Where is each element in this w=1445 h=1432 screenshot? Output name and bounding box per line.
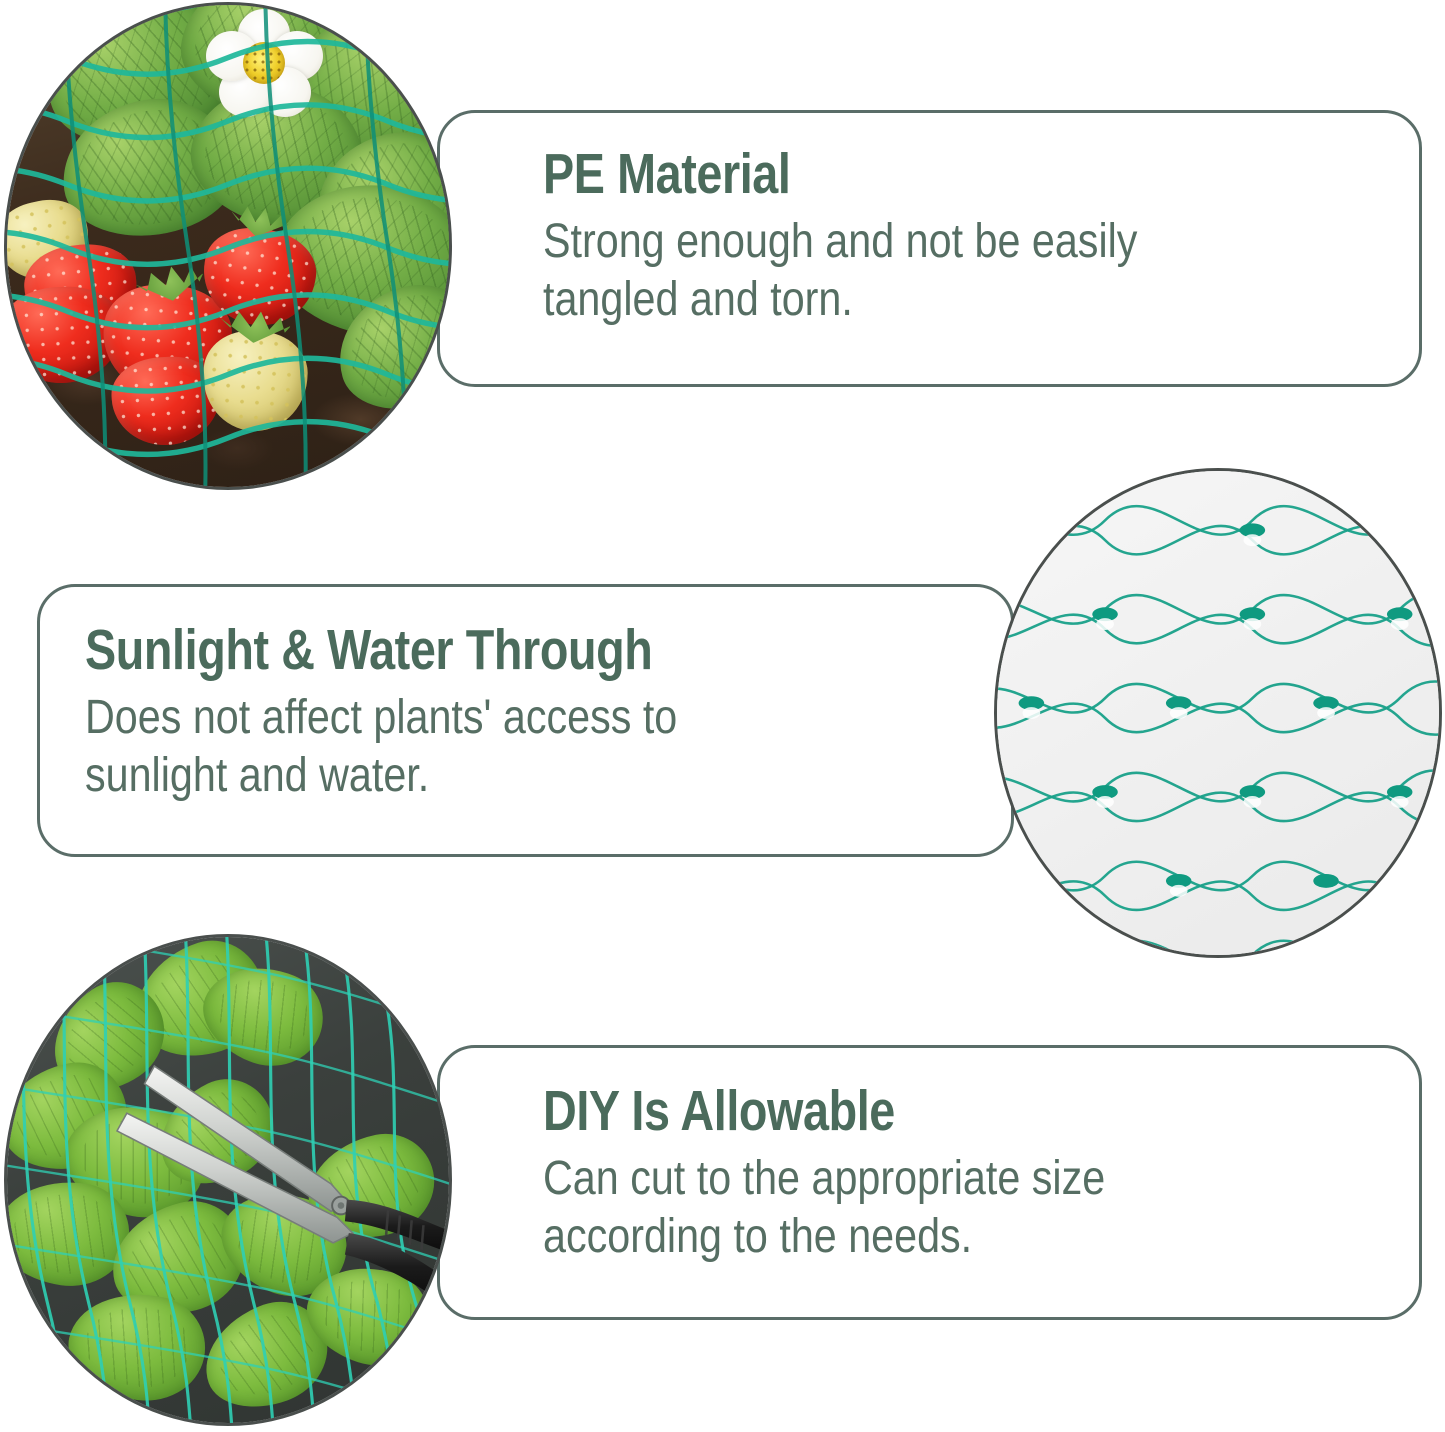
scissors-pivot-center bbox=[338, 1202, 345, 1209]
feature-text-block: DIY Is Allowable Can cut to the appropri… bbox=[543, 1078, 1197, 1266]
feature-description-line: Strong enough and not be easily bbox=[543, 213, 1137, 271]
feature-title: DIY Is Allowable bbox=[543, 1078, 1079, 1144]
scissors bbox=[7, 937, 449, 1423]
strawberry-flower bbox=[205, 9, 323, 119]
feature-title: Sunlight & Water Through bbox=[85, 617, 652, 683]
flower-center bbox=[243, 42, 285, 84]
feature-card-diy-is-allowable: DIY Is Allowable Can cut to the appropri… bbox=[437, 1045, 1422, 1320]
feature-description-line: sunlight and water. bbox=[85, 747, 680, 805]
net-closeup-scene bbox=[997, 471, 1439, 955]
feature-title: PE Material bbox=[543, 141, 1110, 207]
net-mesh-closeup-photo bbox=[994, 468, 1442, 958]
net-mesh-closeup-svg bbox=[997, 471, 1439, 955]
feature-card-sunlight-water-through: Sunlight & Water Through Does not affect… bbox=[37, 584, 1014, 857]
feature-description-line: Can cut to the appropriate size bbox=[543, 1150, 1105, 1208]
feature-text-block: PE Material Strong enough and not be eas… bbox=[543, 141, 1234, 329]
scissors-svg bbox=[7, 937, 449, 1423]
feature-description-line: according to the needs. bbox=[543, 1208, 1105, 1266]
scissors-scene bbox=[7, 937, 449, 1423]
feature-description-line: tangled and torn. bbox=[543, 271, 1137, 329]
feature-description-line: Does not affect plants' access to bbox=[85, 689, 680, 747]
feature-card-pe-material: PE Material Strong enough and not be eas… bbox=[437, 110, 1422, 387]
strawberry-scene bbox=[7, 5, 449, 487]
strawberry-plants-under-net-photo bbox=[4, 2, 452, 490]
infographic-stage: PE Material Strong enough and not be eas… bbox=[0, 0, 1445, 1432]
feature-description: Does not affect plants' access to sunlig… bbox=[85, 689, 680, 805]
feature-description: Can cut to the appropriate size accordin… bbox=[543, 1150, 1105, 1266]
feature-text-block: Sunlight & Water Through Does not affect… bbox=[85, 617, 777, 805]
feature-description: Strong enough and not be easily tangled … bbox=[543, 213, 1137, 329]
scissors-cutting-net-photo bbox=[4, 934, 452, 1426]
